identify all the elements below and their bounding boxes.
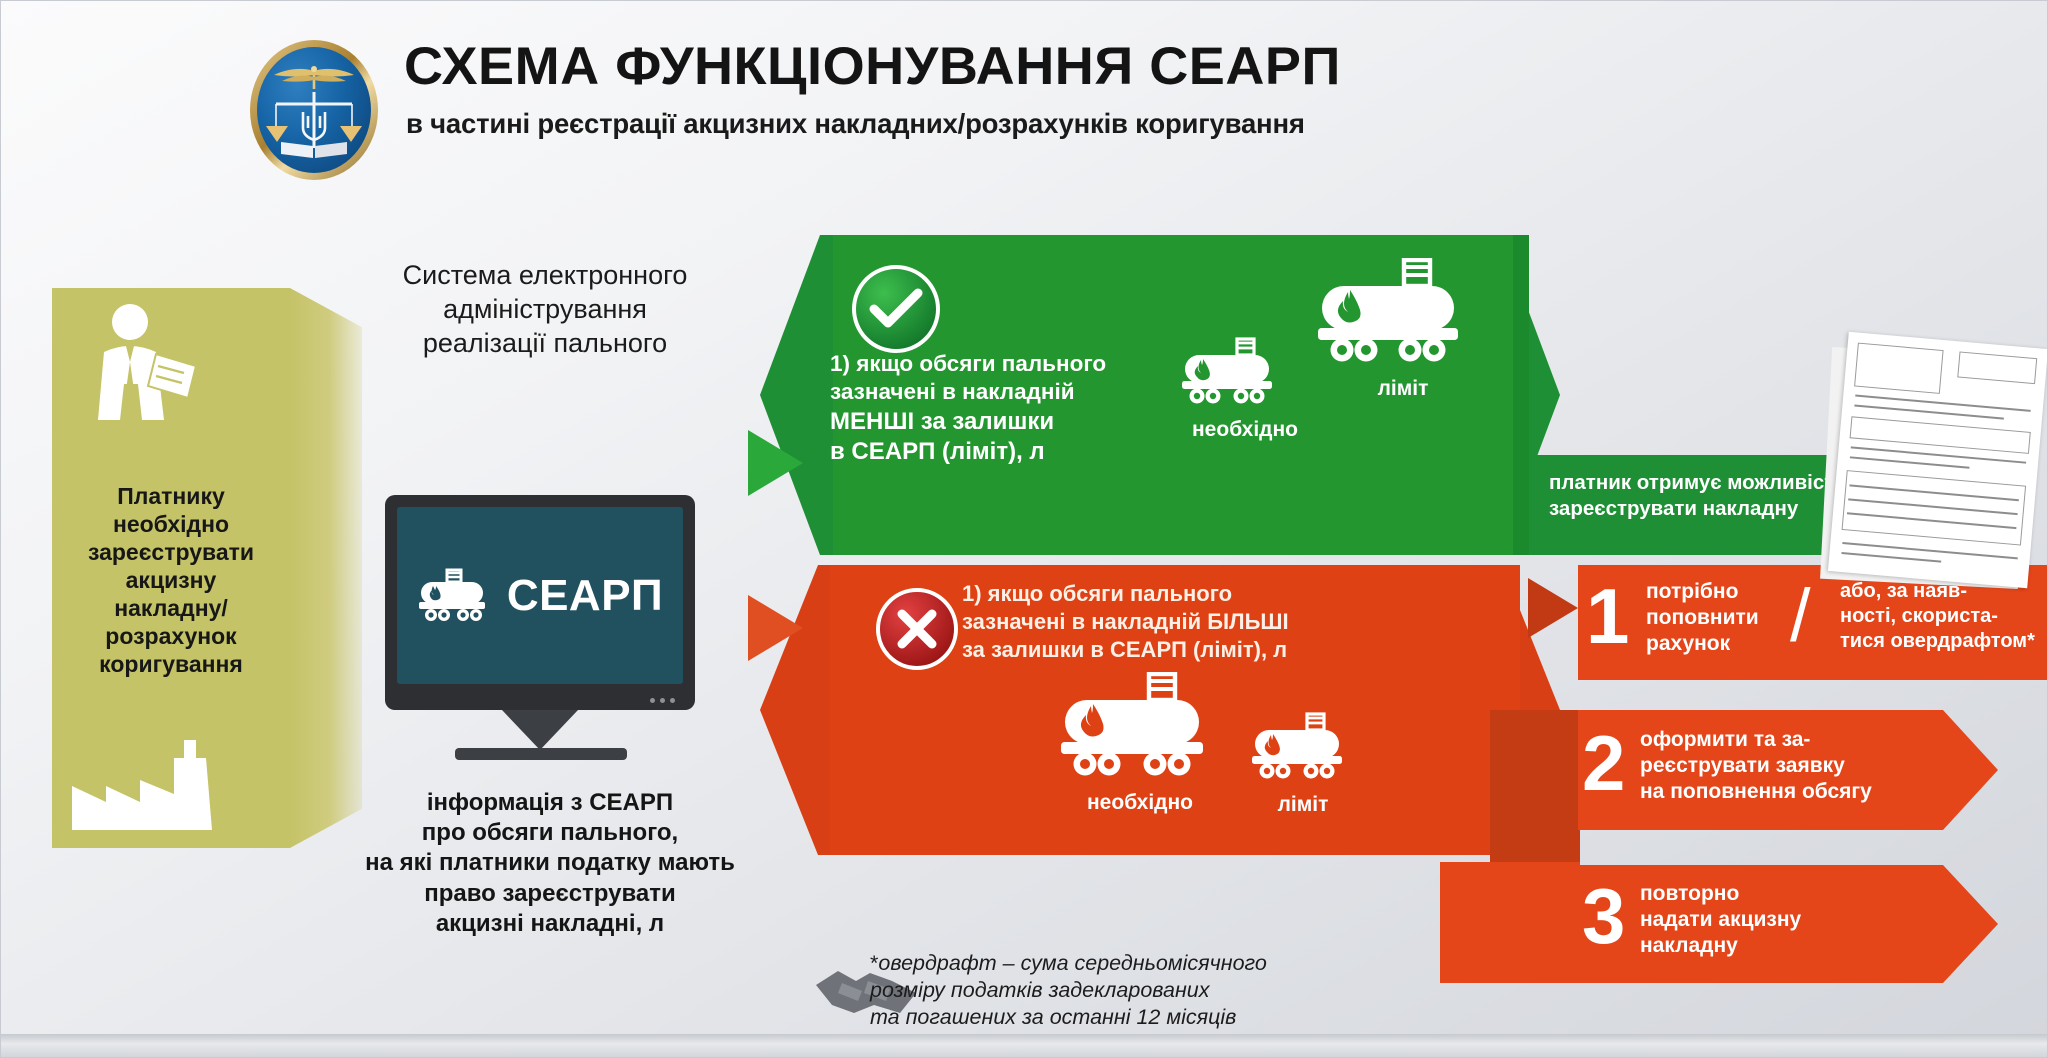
step-2-text: оформити та за- реєструвати заявку на по… xyxy=(1640,727,1872,805)
monitor-indicator-dots xyxy=(650,698,675,703)
fuel-tank-truck-icon xyxy=(1245,712,1361,782)
footnote-text: *овердрафт – сума середньомісячного розм… xyxy=(870,950,1400,1031)
step-1-number: 1 xyxy=(1586,577,1629,655)
step-1-alt-text: або, за наяв- ності, скориста- тися овер… xyxy=(1840,579,2035,653)
red-inbound-arrow-icon xyxy=(748,595,803,661)
red-tank-limit: ліміт xyxy=(1228,712,1378,817)
step-3: 3 повторно надати акцизну накладну xyxy=(1578,865,1998,983)
green-branch-edge xyxy=(1513,235,1529,555)
step-3-number: 3 xyxy=(1582,877,1625,955)
step-1-text: потрібно поповнити рахунок xyxy=(1646,579,1759,657)
bottom-strip xyxy=(0,1034,2048,1058)
red-tank-required: необхідно xyxy=(1035,672,1245,815)
fuel-tank-truck-icon xyxy=(1175,337,1291,407)
header: СХЕМА ФУНКЦІОНУВАННЯ СЕАРП в частині реє… xyxy=(320,30,1820,160)
fuel-tank-truck-icon xyxy=(1051,672,1229,780)
step-1-separator: / xyxy=(1790,579,1811,653)
green-inbound-arrow-icon xyxy=(748,430,803,496)
page-title: СХЕМА ФУНКЦІОНУВАННЯ СЕАРП xyxy=(404,36,1341,97)
law-book-icon xyxy=(279,138,349,160)
check-mark-icon xyxy=(852,265,940,353)
monitor-screen: СЕАРП xyxy=(397,507,683,684)
taxpayer-panel-taper xyxy=(290,288,362,848)
akcyzna-nakladna-document xyxy=(1828,332,2048,589)
searp-info-text: інформація з СЕАРП про обсяги пального, … xyxy=(330,788,770,939)
green-tank-limit-label: ліміт xyxy=(1308,377,1498,401)
cross-mark-icon xyxy=(876,588,958,670)
step-2-connector xyxy=(1490,710,1580,830)
step-2-number: 2 xyxy=(1582,724,1625,802)
monitor-searp-label: СЕАРП xyxy=(507,571,663,621)
infographic-page: СХЕМА ФУНКЦІОНУВАННЯ СЕАРП в частині реє… xyxy=(0,0,2048,1058)
searp-monitor: СЕАРП xyxy=(385,495,695,710)
fuel-tank-truck-icon xyxy=(417,568,495,624)
green-tank-limit: ліміт xyxy=(1308,258,1498,401)
monitor-stand xyxy=(502,710,578,750)
red-tank-limit-label: ліміт xyxy=(1228,793,1378,817)
state-tax-service-emblem-icon xyxy=(250,40,378,180)
monitor-base xyxy=(455,748,627,760)
step-2: 2 оформити та за- реєструвати заявку на … xyxy=(1578,710,1998,830)
green-tank-required-label: необхідно xyxy=(1175,418,1315,442)
taxpayer-panel-text: Платнику необхідно зареєструвати акцизну… xyxy=(52,482,290,678)
red-tank-required-label: необхідно xyxy=(1035,791,1245,815)
red-outbound-arrow-icon xyxy=(1528,578,1578,638)
factory-icon xyxy=(72,740,237,830)
red-condition-text: 1) якщо обсяги пального зазначені в накл… xyxy=(962,580,1382,664)
step-3-connector-arm xyxy=(1440,862,1580,983)
businessman-with-document-icon xyxy=(80,300,200,450)
page-subtitle: в частині реєстрації акцизних накладних/… xyxy=(406,108,1305,140)
fuel-tank-truck-icon xyxy=(1308,258,1484,366)
step-3-text: повторно надати акцизну накладну xyxy=(1640,881,1801,959)
searp-system-label: Система електронного адміністрування реа… xyxy=(400,258,690,360)
winged-caduceus-icon xyxy=(272,65,356,91)
green-condition-text: 1) якщо обсяги пального зазначені в накл… xyxy=(830,350,1190,467)
green-tank-required: необхідно xyxy=(1175,337,1315,442)
